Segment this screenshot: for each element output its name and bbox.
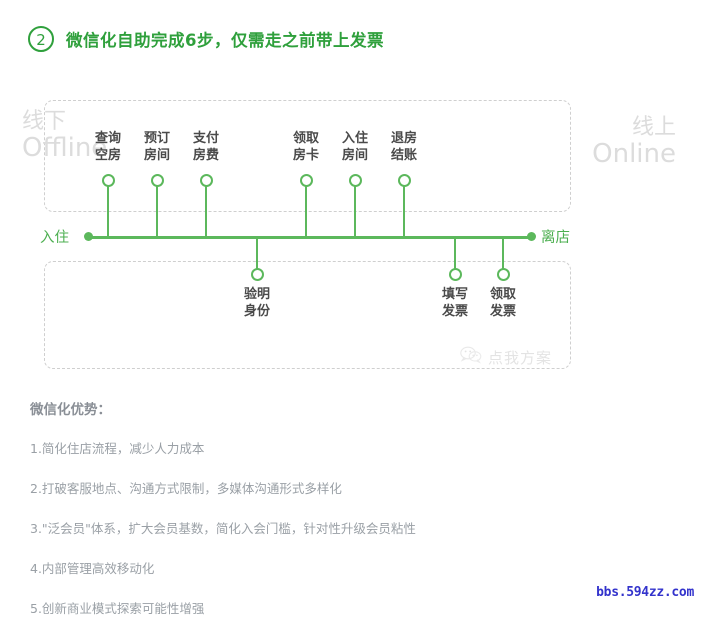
node-label-line1: 预订 (144, 130, 170, 147)
node-stem (205, 186, 207, 236)
node-ring-icon (349, 174, 362, 187)
node-label-line1: 查询 (95, 130, 121, 147)
advantages-title: 微信化优势： (30, 398, 670, 418)
online-zone-label-en: Online (592, 141, 676, 168)
node-label-line1: 领取 (490, 286, 516, 303)
advantages-section: 微信化优势： 1.简化住店流程，减少人力成本2.打破客服地点、沟通方式限制，多媒… (30, 398, 670, 638)
node-ring-icon (151, 174, 164, 187)
node-label-line1: 退房 (391, 130, 417, 147)
step-number-badge: 2 (28, 26, 54, 52)
advantage-item: 4.内部管理高效移动化 (30, 558, 670, 577)
node-label: 支付房费 (193, 130, 219, 164)
node-label-line2: 房间 (342, 147, 368, 164)
node-label: 验明身份 (244, 286, 270, 320)
node-label-line1: 验明 (244, 286, 270, 303)
node-label-line2: 房卡 (293, 147, 319, 164)
advantage-item: 2.打破客服地点、沟通方式限制，多媒体沟通形式多样化 (30, 478, 670, 497)
node-label: 退房结账 (391, 130, 417, 164)
journey-timeline-diagram: 线上 Online 线下 Offline 入住 离店 查询空房预订房间支付房费领… (0, 88, 702, 383)
advantage-item: 5.创新商业模式探索可能性增强 (30, 598, 670, 617)
axis-end-dot (527, 232, 536, 241)
node-ring-icon (449, 268, 462, 281)
node-label: 查询空房 (95, 130, 121, 164)
online-zone-label: 线上 Online (592, 116, 676, 168)
node-label-line2: 房费 (193, 147, 219, 164)
node-label: 填写发票 (442, 286, 468, 320)
node-label-line1: 填写 (442, 286, 468, 303)
node-ring-icon (497, 268, 510, 281)
node-stem (256, 238, 258, 270)
node-label-line2: 结账 (391, 147, 417, 164)
node-label: 领取发票 (490, 286, 516, 320)
axis-end-label: 离店 (541, 226, 570, 247)
advantage-item: 1.简化住店流程，减少人力成本 (30, 438, 670, 457)
wechat-icon (460, 346, 482, 368)
page-title: 微信化自助完成6步，仅需走之前带上发票 (66, 27, 384, 51)
wechat-watermark-text: 点我方案 (488, 347, 552, 368)
timeline-axis (88, 236, 531, 239)
node-stem (502, 238, 504, 270)
node-ring-icon (300, 174, 313, 187)
node-ring-icon (200, 174, 213, 187)
online-zone-label-cn: 线上 (592, 116, 676, 139)
wechat-watermark: 点我方案 (460, 346, 552, 368)
advantage-item: 3."泛会员"体系，扩大会员基数，简化入会门槛，针对性升级会员粘性 (30, 518, 670, 537)
node-stem (403, 186, 405, 236)
node-ring-icon (398, 174, 411, 187)
node-ring-icon (251, 268, 264, 281)
node-stem (107, 186, 109, 236)
node-label: 预订房间 (144, 130, 170, 164)
node-label-line1: 领取 (293, 130, 319, 147)
node-stem (305, 186, 307, 236)
node-label-line2: 发票 (442, 303, 468, 320)
node-label-line1: 入住 (342, 130, 368, 147)
node-stem (454, 238, 456, 270)
axis-start-dot (84, 232, 93, 241)
axis-start-label: 入住 (40, 226, 69, 247)
node-label: 领取房卡 (293, 130, 319, 164)
section-header: 2 微信化自助完成6步，仅需走之前带上发票 (28, 26, 384, 52)
node-label: 入住房间 (342, 130, 368, 164)
site-watermark: bbs.594zz.com (596, 585, 694, 600)
node-label-line2: 身份 (244, 303, 270, 320)
node-label-line2: 空房 (95, 147, 121, 164)
node-ring-icon (102, 174, 115, 187)
node-stem (354, 186, 356, 236)
advantages-list: 1.简化住店流程，减少人力成本2.打破客服地点、沟通方式限制，多媒体沟通形式多样… (30, 438, 670, 617)
node-label-line2: 发票 (490, 303, 516, 320)
node-stem (156, 186, 158, 236)
node-label-line1: 支付 (193, 130, 219, 147)
node-label-line2: 房间 (144, 147, 170, 164)
